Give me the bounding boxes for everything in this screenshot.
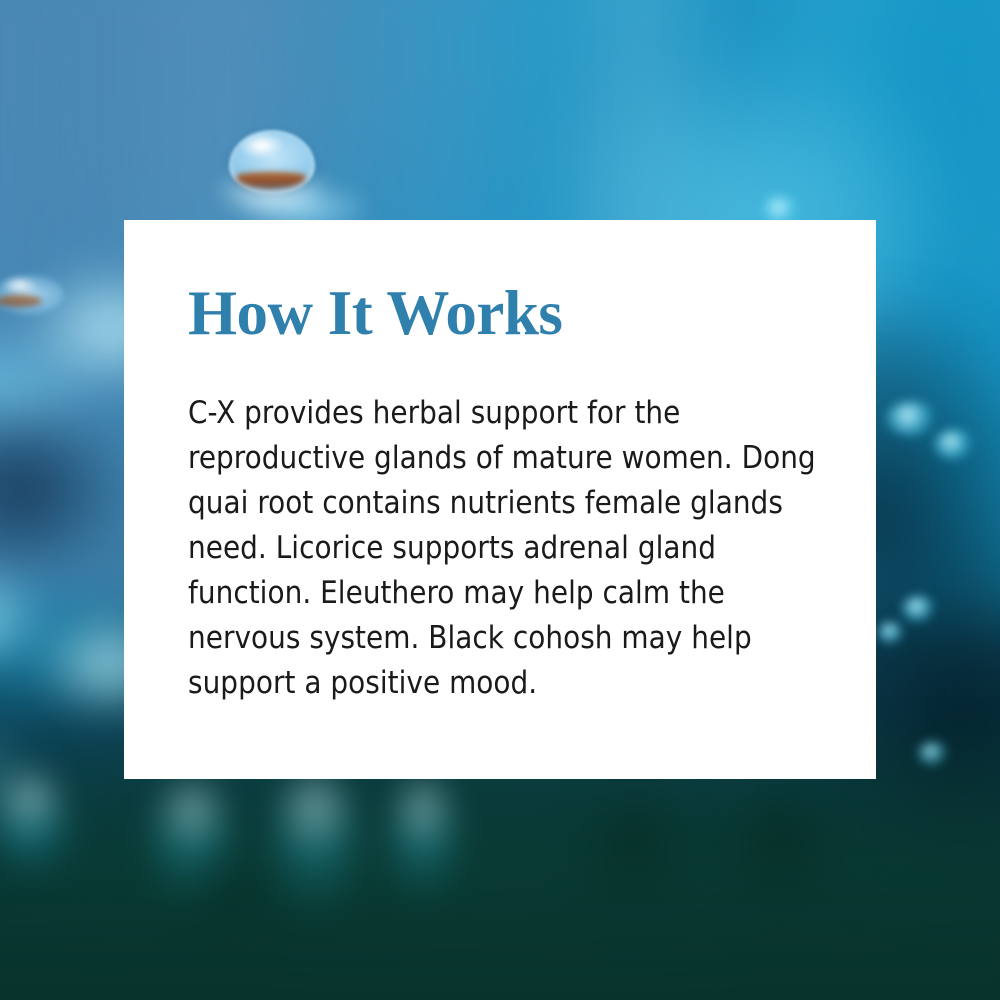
body-paragraph: C-X provides herbal support for the repr…	[188, 391, 824, 706]
poster: How It Works C-X provides herbal support…	[0, 0, 1000, 1000]
droplet-sparkle	[902, 596, 936, 622]
droplet-sparkle	[878, 622, 904, 644]
droplet-sparkle	[886, 402, 938, 436]
droplet-highlight	[246, 139, 280, 156]
droplet-sparkle	[934, 430, 974, 460]
page-title: How It Works	[188, 282, 812, 345]
content-card: How It Works C-X provides herbal support…	[124, 220, 876, 779]
